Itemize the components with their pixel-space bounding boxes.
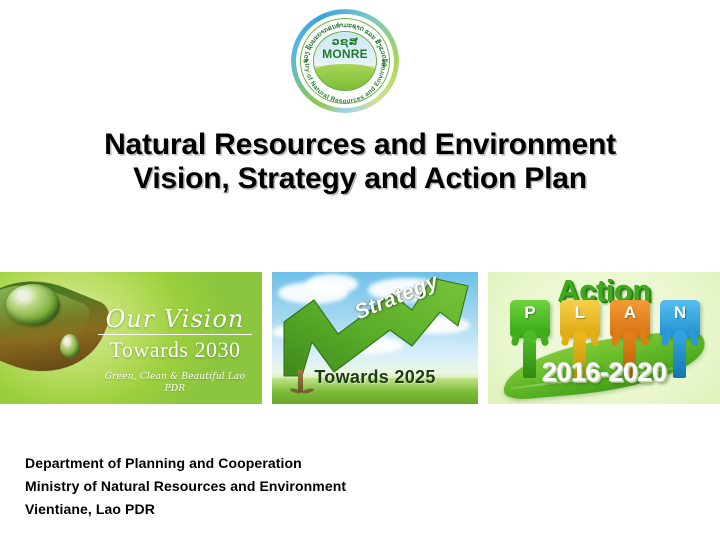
plan-letter-a: A bbox=[610, 304, 650, 322]
title-line-2: Vision, Strategy and Action Plan bbox=[0, 162, 720, 196]
vision-caption: Green, Clean & Beautiful Lao PDR bbox=[96, 371, 254, 395]
logo-acronym: MONRE bbox=[314, 48, 376, 60]
vision-heading: Our Vision bbox=[96, 306, 254, 332]
slide-title: Natural Resources and Environment Vision… bbox=[0, 128, 720, 196]
vision-subheading: Towards 2030 bbox=[96, 338, 254, 362]
vision-text-block: Our Vision Towards 2030 Green, Clean & B… bbox=[96, 306, 254, 395]
footer-line-1: Department of Planning and Cooperation bbox=[25, 452, 585, 475]
monre-logo: ກະຊວງ ຊັບພະຍາກອນທຳມະຊາດ ແລະ ສິ່ງແວດລ້ອມ … bbox=[291, 9, 399, 113]
plan-letter-p: P bbox=[510, 304, 550, 322]
plan-letter-l: L bbox=[560, 304, 600, 322]
strategy-subheading: Towards 2025 bbox=[272, 367, 478, 388]
logo-lao-acronym: ວຊສ bbox=[314, 36, 376, 47]
logo-dot-right-icon bbox=[382, 59, 385, 62]
footer-line-2: Ministry of Natural Resources and Enviro… bbox=[25, 475, 585, 498]
footer-line-3: Vientiane, Lao PDR bbox=[25, 498, 585, 521]
water-droplet-small bbox=[60, 334, 80, 358]
our-vision-banner: Our Vision Towards 2030 Green, Clean & B… bbox=[0, 272, 262, 404]
logo-landscape-disc: ວຊສ MONRE bbox=[313, 31, 377, 91]
footer-block: Department of Planning and Cooperation M… bbox=[25, 452, 585, 521]
logo-ground bbox=[314, 64, 376, 90]
plan-letter-n: N bbox=[660, 304, 700, 322]
logo-dot-left-icon bbox=[305, 59, 308, 62]
strategy-banner: Strategy Towards 2025 bbox=[272, 272, 478, 404]
action-plan-years: 2016-2020 bbox=[488, 358, 720, 386]
banner-strip: Our Vision Towards 2030 Green, Clean & B… bbox=[0, 272, 720, 404]
action-plan-banner: Action P L A bbox=[488, 272, 720, 404]
vision-divider bbox=[98, 334, 252, 335]
title-line-1: Natural Resources and Environment bbox=[0, 128, 720, 162]
water-droplet-large bbox=[6, 284, 60, 326]
